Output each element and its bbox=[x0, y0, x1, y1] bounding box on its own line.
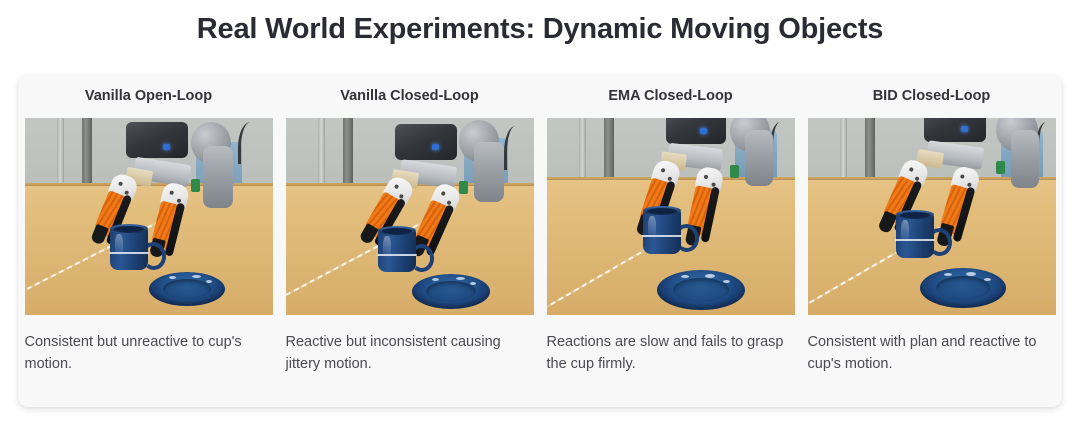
panel-title: Vanilla Open-Loop bbox=[85, 88, 212, 104]
panel-ema-closed-loop: EMA Closed-Loop bbox=[540, 74, 801, 407]
results-figure: Real World Experiments: Dynamic Moving O… bbox=[0, 0, 1080, 427]
panel-title: EMA Closed-Loop bbox=[608, 88, 732, 104]
panel-caption: Reactive but inconsistent causing jitter… bbox=[286, 331, 534, 376]
scene-image-ema-closed-loop bbox=[547, 118, 795, 315]
panel-vanilla-open-loop: Vanilla Open-Loop bbox=[18, 74, 279, 407]
panel-grid: Vanilla Open-Loop bbox=[18, 74, 1062, 407]
scene-image-bid-closed-loop bbox=[808, 118, 1056, 315]
scene-image-vanilla-closed-loop bbox=[286, 118, 534, 315]
panel-bid-closed-loop: BID Closed-Loop bbox=[801, 74, 1062, 407]
panel-title: BID Closed-Loop bbox=[873, 88, 991, 104]
scene-image-vanilla-open-loop bbox=[25, 118, 273, 315]
panel-caption: Consistent but unreactive to cup's motio… bbox=[25, 331, 273, 376]
experiments-card: Vanilla Open-Loop bbox=[18, 74, 1062, 407]
panel-vanilla-closed-loop: Vanilla Closed-Loop bbox=[279, 74, 540, 407]
panel-title: Vanilla Closed-Loop bbox=[340, 88, 479, 104]
page-title: Real World Experiments: Dynamic Moving O… bbox=[0, 13, 1080, 46]
panel-caption: Reactions are slow and fails to grasp th… bbox=[547, 331, 795, 376]
panel-caption: Consistent with plan and reactive to cup… bbox=[808, 331, 1056, 376]
